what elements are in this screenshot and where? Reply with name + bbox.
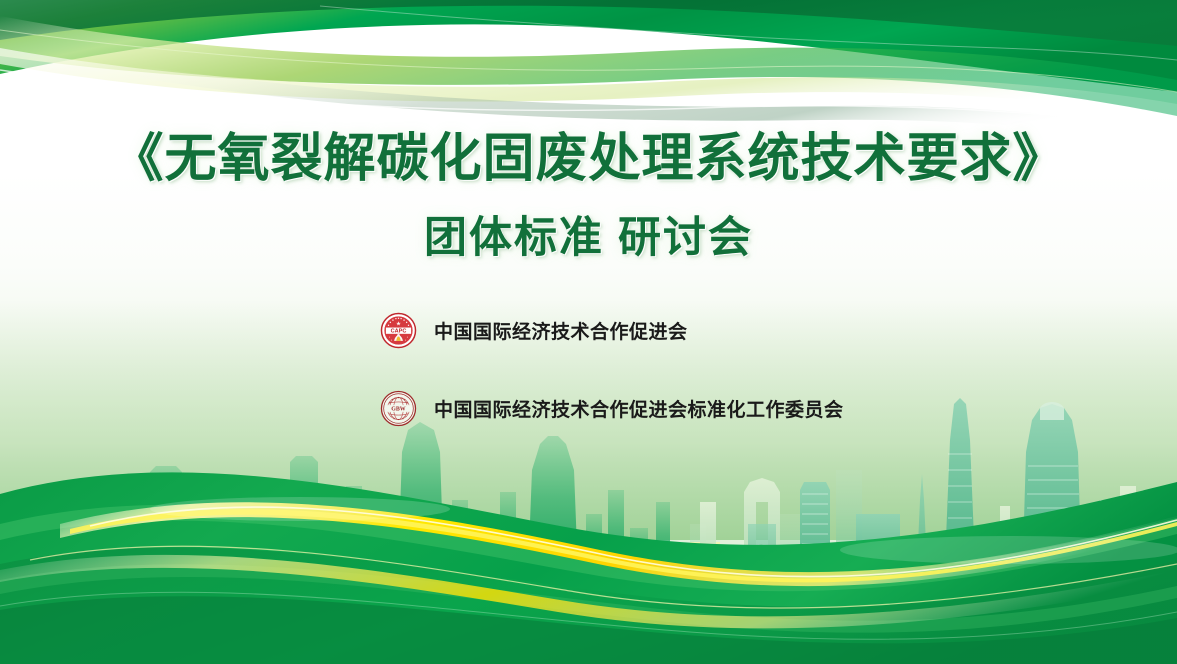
capc-seal-icon: CAPC [380,312,417,349]
page-title: 《无氧裂解碳化固废处理系统技术要求》 [0,116,1177,191]
organization-row: GBW 中国国际经济技术合作促进会标准化工作委员会 [380,388,1080,428]
presentation-slide: 《无氧裂解碳化固废处理系统技术要求》 团体标准 研讨会 [0,0,1177,664]
organization-row: CAPC 中国国际经济技术合作促进会 [380,310,1080,350]
gbw-seal-icon: GBW [380,390,417,427]
slide-content: 《无氧裂解碳化固废处理系统技术要求》 团体标准 研讨会 [0,0,1177,664]
page-subtitle: 团体标准 研讨会 [0,203,1177,265]
organization-name: 中国国际经济技术合作促进会 [434,317,688,344]
organization-name: 中国国际经济技术合作促进会标准化工作委员会 [434,395,844,422]
svg-text:CAPC: CAPC [391,328,407,334]
organization-list: CAPC 中国国际经济技术合作促进会 [380,310,1080,428]
svg-text:GBW: GBW [391,406,406,412]
